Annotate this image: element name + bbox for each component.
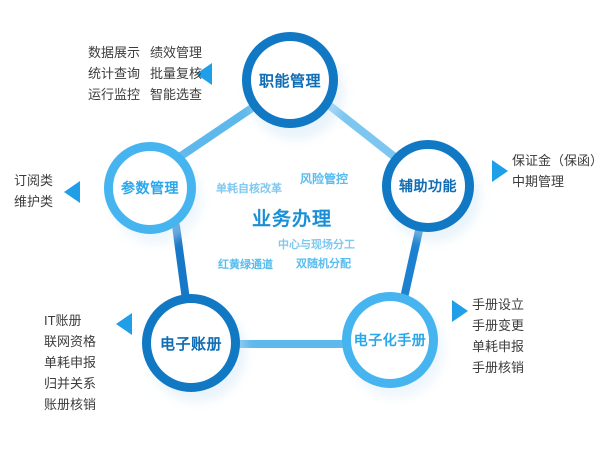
node-label-function-management: 职能管理 [259, 70, 321, 91]
label-text: 订阅类 [14, 170, 53, 191]
node-label-auxiliary-functions: 辅助功能 [399, 176, 457, 196]
label-text: 手册核销 [472, 357, 524, 378]
center-cluster: 单耗自核改革 风险管控 业务办理 中心与现场分工 红黄绿通道 双随机分配 [196, 166, 386, 276]
node-parameter-management[interactable]: 参数管理 [104, 142, 196, 234]
label-text: 联网资格 [44, 331, 96, 352]
center-text-dual-random-assignment: 双随机分配 [296, 255, 351, 271]
label-text: 手册设立 [472, 294, 524, 315]
labels-electronic-ledger: IT账册 联网资格 单耗申报 归并关系 账册核销 [44, 310, 96, 415]
node-label-electronic-manual: 电子化手册 [354, 330, 427, 350]
pointer-left-icon-parameter-management [64, 181, 80, 203]
label-text: 统计查询 [88, 63, 150, 84]
label-text: 维护类 [14, 191, 53, 212]
label-text: 归并关系 [44, 373, 96, 394]
node-label-electronic-ledger: 电子账册 [160, 333, 222, 354]
labels-electronic-manual: 手册设立 手册变更 单耗申报 手册核销 [472, 294, 524, 378]
label-text: 批量复核 [150, 63, 202, 84]
pointer-left-icon-electronic-ledger [116, 313, 132, 335]
label-text: IT账册 [44, 310, 96, 331]
center-text-unit-consumption-reform: 单耗自核改革 [216, 180, 282, 196]
label-text: 单耗申报 [44, 352, 96, 373]
center-text-center-field-division: 中心与现场分工 [278, 236, 355, 252]
node-auxiliary-functions[interactable]: 辅助功能 [382, 140, 474, 232]
label-text: 中期管理 [512, 171, 600, 192]
center-text-risk-control: 风险管控 [300, 170, 348, 187]
label-text: 数据展示 [88, 42, 150, 63]
node-label-parameter-management: 参数管理 [121, 178, 179, 198]
label-text: 手册变更 [472, 315, 524, 336]
label-text: 账册核销 [44, 394, 96, 415]
labels-function-management: 数据展示绩效管理 统计查询批量复核 运行监控智能选查 [88, 42, 202, 105]
diagram-canvas: 职能管理 参数管理 辅助功能 电子账册 电子化手册 数据展示绩效管理 统计查询批… [0, 0, 600, 449]
label-text: 单耗申报 [472, 336, 524, 357]
node-electronic-ledger[interactable]: 电子账册 [142, 294, 240, 392]
label-text: 运行监控 [88, 84, 150, 105]
label-text: 保证金（保函） [512, 150, 600, 171]
label-row: 数据展示绩效管理 [88, 42, 202, 63]
label-text: 绩效管理 [150, 42, 202, 63]
pointer-right-icon-electronic-manual [452, 300, 468, 322]
center-text-traffic-light-channel: 红黄绿通道 [218, 256, 273, 272]
label-text: 智能选查 [150, 84, 202, 105]
node-function-management[interactable]: 职能管理 [242, 32, 338, 128]
label-row: 统计查询批量复核 [88, 63, 202, 84]
center-title: 业务办理 [252, 204, 332, 231]
label-row: 运行监控智能选查 [88, 84, 202, 105]
pointer-right-icon-auxiliary-functions [492, 160, 508, 182]
node-electronic-manual[interactable]: 电子化手册 [342, 292, 438, 388]
labels-parameter-management: 订阅类 维护类 [14, 170, 53, 212]
labels-auxiliary-functions: 保证金（保函） 中期管理 [512, 150, 600, 192]
